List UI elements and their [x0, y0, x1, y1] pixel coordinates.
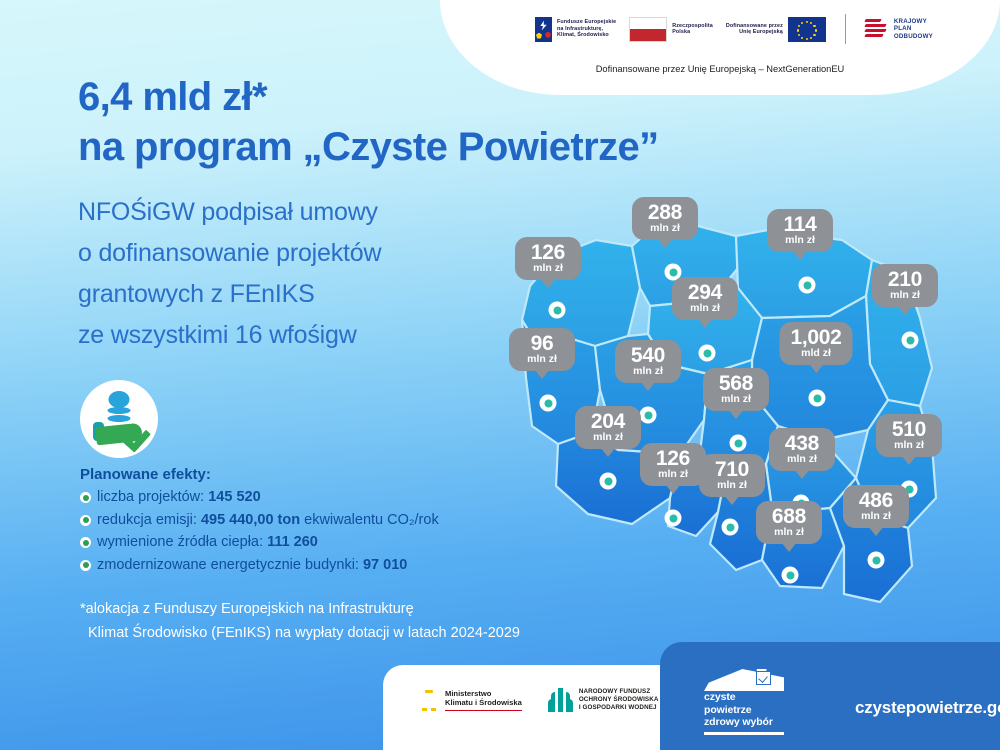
map-pin-malopolskie[interactable]: 688mln zł — [756, 501, 822, 544]
rzeczpospolita-polska-logo: Rzeczpospolita Polska — [629, 17, 713, 42]
pin-tail — [665, 484, 681, 494]
pin-bubble: 1,002mld zł — [779, 322, 852, 365]
effect-label: liczba projektów: — [97, 489, 208, 505]
kpo-icon — [865, 18, 889, 40]
bullet-icon — [80, 515, 91, 526]
bullet-icon — [80, 560, 91, 571]
pin-tail — [897, 305, 913, 315]
pin-bubble: 126mln zł — [640, 443, 706, 486]
map-pin-wielkopolskie[interactable]: 540mln zł — [615, 340, 681, 383]
poland-flag-icon — [629, 17, 667, 42]
website-url[interactable]: czystepowietrze.gov.pl — [855, 698, 1000, 718]
polish-eagle-icon — [419, 689, 439, 711]
effect-item: redukcja emisji: 495 440,00 ton ekwiwale… — [80, 510, 550, 531]
map-marker-dot-dolnoslaskie[interactable] — [600, 473, 617, 490]
map-marker-dot-wielkopolskie[interactable] — [640, 407, 657, 424]
pin-bubble: 114mln zł — [767, 209, 833, 252]
pin-value: 710 — [710, 459, 754, 480]
poland-map: 126mln zł288mln zł114mln zł210mln zł294m… — [500, 168, 1000, 628]
pin-bubble: 210mln zł — [872, 264, 938, 307]
pin-unit: mln zł — [520, 353, 564, 365]
pin-bubble: 486mln zł — [843, 485, 909, 528]
effect-item-text: zmodernizowane energetycznie budynki: 97… — [97, 555, 407, 576]
page-title: 6,4 mld zł* na program „Czyste Powietrze… — [78, 72, 838, 172]
effect-item: wymienione źródła ciepła: 111 260 — [80, 532, 550, 553]
pin-value: 210 — [883, 269, 927, 290]
map-marker-dot-podlaskie[interactable] — [902, 332, 919, 349]
pin-tail — [794, 469, 810, 479]
effect-value: 111 260 — [267, 534, 318, 550]
footnote-line-1: *alokacja z Funduszy Europejskich na Inf… — [80, 601, 414, 617]
effect-item-text: wymienione źródła ciepła: 111 260 — [97, 532, 318, 553]
pin-value: 126 — [651, 448, 695, 469]
subtitle-line-2: o dofinansowanie projektów — [78, 233, 548, 274]
pin-tail — [728, 409, 744, 419]
nfosigw-logo: NARODOWY FUNDUSZ OCHRONY ŚRODOWISKA I GO… — [548, 688, 659, 712]
logo-divider — [845, 14, 846, 44]
map-pin-lubelskie[interactable]: 510mln zł — [876, 414, 942, 457]
pin-value: 294 — [683, 282, 727, 303]
map-pin-zachodniopomorskie[interactable]: 126mln zł — [515, 237, 581, 280]
pin-tail — [534, 369, 550, 379]
pin-value: 438 — [780, 433, 824, 454]
pin-tail — [697, 318, 713, 328]
map-pin-lodzkie[interactable]: 568mln zł — [703, 368, 769, 411]
pin-value: 1,002 — [790, 327, 841, 348]
eu-logos-row: Fundusze Europejskie na Infrastrukturę, … — [535, 14, 933, 44]
infographic-root: Fundusze Europejskie na Infrastrukturę, … — [0, 0, 1000, 750]
pin-value: 510 — [887, 419, 931, 440]
map-pin-kujawsko-pomorskie[interactable]: 294mln zł — [672, 277, 738, 320]
effect-label: zmodernizowane energetycznie budynki: — [97, 557, 363, 573]
effect-item-text: liczba projektów: 145 520 — [97, 487, 261, 508]
map-pin-podlaskie[interactable]: 210mln zł — [872, 264, 938, 307]
pin-value: 114 — [778, 214, 822, 235]
map-pin-opolskie[interactable]: 126mln zł — [640, 443, 706, 486]
pin-tail — [868, 526, 884, 536]
ministry-logo: Ministerstwo Klimatu i Środowiska — [419, 689, 522, 711]
map-pin-warminsko-mazurskie[interactable]: 114mln zł — [767, 209, 833, 252]
pin-tail — [657, 238, 673, 248]
hand-with-coins-icon — [80, 380, 158, 458]
pin-value: 126 — [526, 242, 570, 263]
pin-value: 568 — [714, 373, 758, 394]
pin-tail — [792, 250, 808, 260]
pin-bubble: 510mln zł — [876, 414, 942, 457]
nfosigw-tree-icon — [548, 688, 573, 712]
footer-institutions: Ministerstwo Klimatu i Środowiska NARODO… — [383, 665, 683, 750]
dofinansowane-ue-logo: Dofinansowane przez Unię Europejską — [726, 17, 826, 42]
map-marker-dot-malopolskie[interactable] — [782, 567, 799, 584]
map-marker-dot-zachodniopomorskie[interactable] — [549, 302, 566, 319]
effect-value: 97 010 — [363, 557, 407, 573]
pin-value: 486 — [854, 490, 898, 511]
rzeczpospolita-polska-label: Rzeczpospolita Polska — [672, 23, 713, 36]
pin-tail — [640, 381, 656, 391]
pin-tail — [600, 447, 616, 457]
subtitle-line-1: NFOŚiGW podpisał umowy — [78, 192, 548, 233]
krajowy-plan-odbudowy-logo: KRAJOWY PLAN ODBUDOWY — [865, 18, 933, 40]
effect-item: liczba projektów: 145 520 — [80, 487, 550, 508]
headline-line-2: na program „Czyste Powietrze” — [78, 122, 838, 172]
bullet-icon — [80, 537, 91, 548]
pin-bubble: 688mln zł — [756, 501, 822, 544]
pin-tail — [781, 542, 797, 552]
pin-bubble: 96mln zł — [509, 328, 575, 371]
map-pin-mazowieckie[interactable]: 1,002mld zł — [779, 322, 852, 365]
czyste-powietrze-badge: czyste powietrze zdrowy wybór — [704, 669, 784, 735]
pin-value: 688 — [767, 506, 811, 527]
badge-underline — [704, 732, 784, 735]
map-pin-slaskie[interactable]: 710mln zł — [699, 454, 765, 497]
pin-bubble: 710mln zł — [699, 454, 765, 497]
pin-bubble: 294mln zł — [672, 277, 738, 320]
pin-bubble: 540mln zł — [615, 340, 681, 383]
effect-item: zmodernizowane energetycznie budynki: 97… — [80, 555, 550, 576]
headline-line-1: 6,4 mld zł* — [78, 72, 838, 122]
pin-value: 204 — [586, 411, 630, 432]
subtitle-line-4: ze wszystkimi 16 wfośigw — [78, 315, 548, 356]
pin-bubble: 288mln zł — [632, 197, 698, 240]
pin-tail — [540, 278, 556, 288]
effect-value: 145 520 — [208, 489, 260, 505]
map-pin-pomorskie[interactable]: 288mln zł — [632, 197, 698, 240]
footer-brand-bar: czyste powietrze zdrowy wybór czystepowi… — [660, 642, 1000, 750]
map-marker-dot-lubuskie[interactable] — [540, 395, 557, 412]
effect-label: wymienione źródła ciepła: — [97, 534, 267, 550]
map-marker-dot-warminsko-mazurskie[interactable] — [799, 277, 816, 294]
effect-suffix: ekwiwalentu CO₂/rok — [300, 512, 439, 528]
subtitle-line-3: grantowych z FEnIKS — [78, 274, 548, 315]
map-marker-dot-kujawsko-pomorskie[interactable] — [699, 345, 716, 362]
map-marker-dot-opolskie[interactable] — [665, 510, 682, 527]
map-marker-dot-mazowieckie[interactable] — [809, 390, 826, 407]
effect-item-text: redukcja emisji: 495 440,00 ton ekwiwale… — [97, 510, 439, 531]
pin-bubble: 126mln zł — [515, 237, 581, 280]
planned-effects-title: Planowane efekty: — [80, 466, 550, 483]
planned-effects-list: liczba projektów: 145 520redukcja emisji… — [80, 487, 550, 576]
kpo-label: KRAJOWY PLAN ODBUDOWY — [894, 18, 933, 40]
pin-value: 540 — [626, 345, 670, 366]
map-pin-lubuskie[interactable]: 96mln zł — [509, 328, 575, 371]
checkbox-icon — [756, 671, 771, 685]
ministry-label: Ministerstwo Klimatu i Środowiska — [445, 689, 522, 711]
pin-bubble: 568mln zł — [703, 368, 769, 411]
pin-tail — [724, 495, 740, 505]
map-pin-dolnoslaskie[interactable]: 204mln zł — [575, 406, 641, 449]
eu-flag-icon — [788, 17, 826, 42]
effect-label: redukcja emisji: — [97, 512, 201, 528]
fundusze-europejskie-label: Fundusze Europejskie na Infrastrukturę, … — [557, 19, 616, 38]
badge-line-2: zdrowy wybór — [704, 716, 784, 729]
badge-line-1: czyste powietrze — [704, 691, 784, 716]
map-marker-dot-lodzkie[interactable] — [730, 435, 747, 452]
map-pin-podkarpackie[interactable]: 486mln zł — [843, 485, 909, 528]
map-marker-dot-slaskie[interactable] — [722, 519, 739, 536]
map-marker-dot-podkarpackie[interactable] — [868, 552, 885, 569]
fundusze-europejskie-logo: Fundusze Europejskie na Infrastrukturę, … — [535, 17, 616, 42]
pin-value: 96 — [520, 333, 564, 354]
house-roof-icon — [704, 669, 784, 691]
pin-tail — [808, 363, 824, 373]
nfosigw-label: NARODOWY FUNDUSZ OCHRONY ŚRODOWISKA I GO… — [579, 688, 659, 711]
subtitle: NFOŚiGW podpisał umowy o dofinansowanie … — [78, 192, 548, 356]
bullet-icon — [80, 492, 91, 503]
pin-value: 288 — [643, 202, 687, 223]
fundusze-europejskie-icon — [535, 17, 552, 42]
pin-bubble: 438mln zł — [769, 428, 835, 471]
map-pin-swietokrzyskie[interactable]: 438mln zł — [769, 428, 835, 471]
pin-bubble: 204mln zł — [575, 406, 641, 449]
dofinansowane-ue-label: Dofinansowane przez Unię Europejską — [726, 23, 783, 36]
pin-tail — [901, 455, 917, 465]
planned-effects-block: Planowane efekty: liczba projektów: 145 … — [80, 466, 550, 577]
effect-value: 495 440,00 ton — [201, 512, 300, 528]
